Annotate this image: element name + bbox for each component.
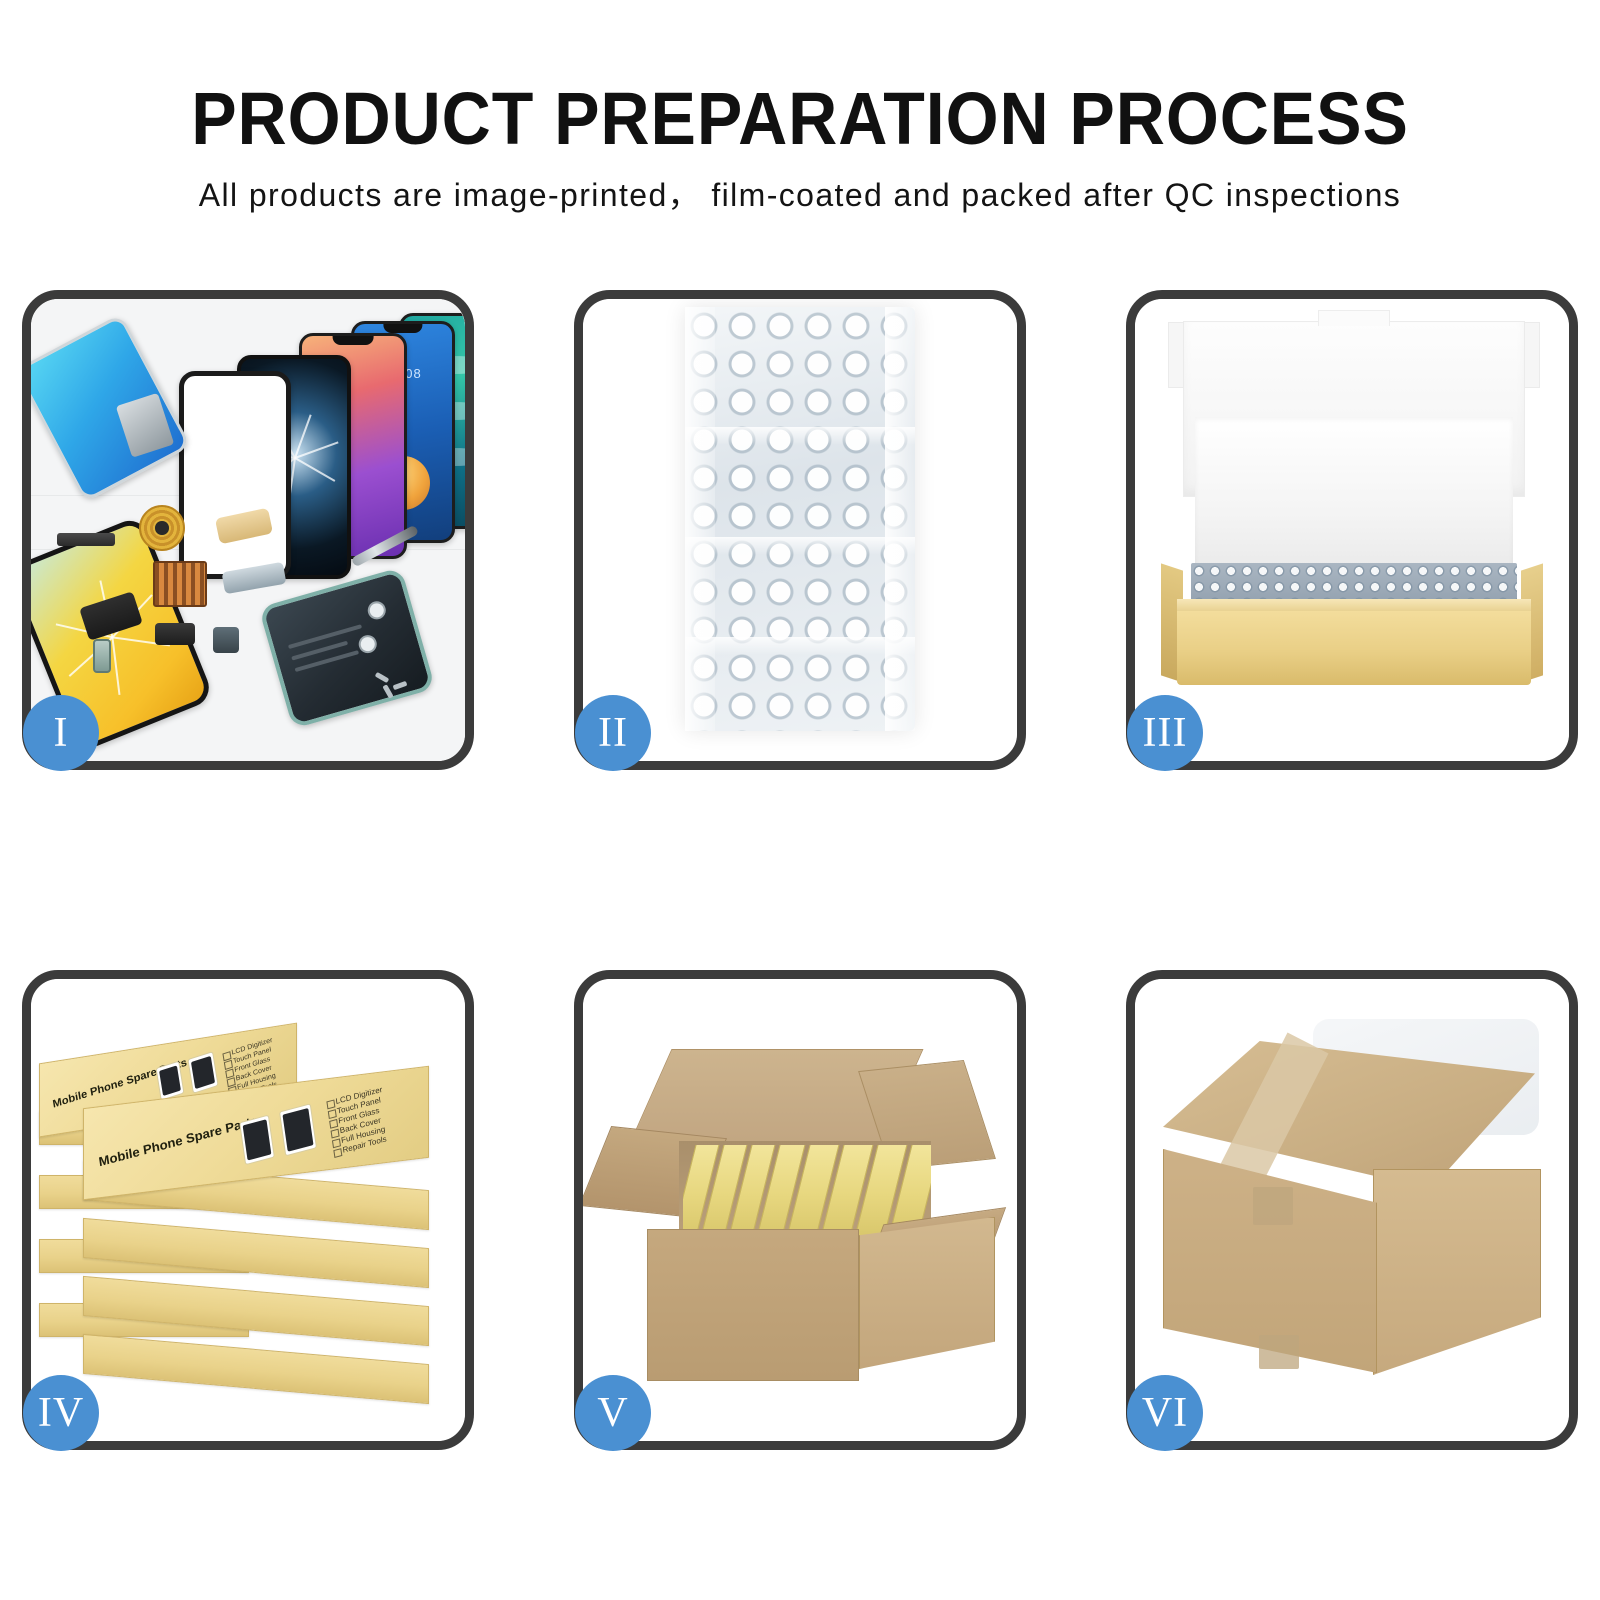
step-number-badge: IV (23, 1375, 99, 1451)
sim-tray (93, 639, 111, 673)
connector-strip (57, 533, 115, 546)
process-step-grid: 08:08 (22, 290, 1578, 1450)
box-phone-thumbnail (279, 1103, 317, 1156)
wireless-charging-coil (139, 505, 185, 551)
foam-insert (1195, 417, 1513, 577)
step-number-badge: III (1127, 695, 1203, 771)
retail-box (83, 1334, 429, 1404)
box-phone-thumbnail (239, 1115, 275, 1166)
step-panel-2: II (574, 290, 1026, 770)
page-subtitle: All products are image-printed， film-coa… (0, 174, 1600, 216)
bubble-wrap-package (685, 307, 915, 731)
header: PRODUCT PREPARATION PROCESS All products… (0, 78, 1600, 216)
step-panel-1: 08:08 (22, 290, 474, 770)
step-2-image (583, 299, 1017, 761)
step-number-badge: I (23, 695, 99, 771)
carton-tape-tab (1259, 1335, 1299, 1369)
step-panel-4: Mobile Phone Spare Parts LCD Digitizer T… (22, 970, 474, 1450)
carton-side-face (1373, 1169, 1541, 1375)
yellow-box-stacks: Mobile Phone Spare Parts LCD Digitizer T… (31, 979, 465, 1441)
front-glass-panel (179, 371, 291, 579)
step-1-image: 08:08 (31, 299, 465, 761)
carton-front-panel (647, 1229, 859, 1381)
step-number-badge: VI (1127, 1375, 1203, 1451)
retail-box (83, 1218, 429, 1288)
step-3-image (1135, 299, 1569, 761)
product-preparation-infographic: PRODUCT PREPARATION PROCESS All products… (0, 0, 1600, 1600)
mailer-box-front (1177, 611, 1531, 685)
step-6-image (1135, 979, 1569, 1441)
speaker-module (155, 623, 195, 645)
step-4-image: Mobile Phone Spare Parts LCD Digitizer T… (31, 979, 465, 1441)
screws (375, 675, 415, 697)
step-number-badge: II (575, 695, 651, 771)
step-number-badge: V (575, 1375, 651, 1451)
page-title: PRODUCT PREPARATION PROCESS (64, 78, 1536, 160)
camera-module (213, 627, 239, 653)
step-5-image (583, 979, 1017, 1441)
step-panel-3: III (1126, 290, 1578, 770)
carton-tape-tab (1253, 1187, 1293, 1225)
carton-side-panel (859, 1217, 995, 1369)
copper-chip-array (153, 561, 207, 607)
step-panel-6: VI (1126, 970, 1578, 1450)
step-panel-5: V (574, 970, 1026, 1450)
